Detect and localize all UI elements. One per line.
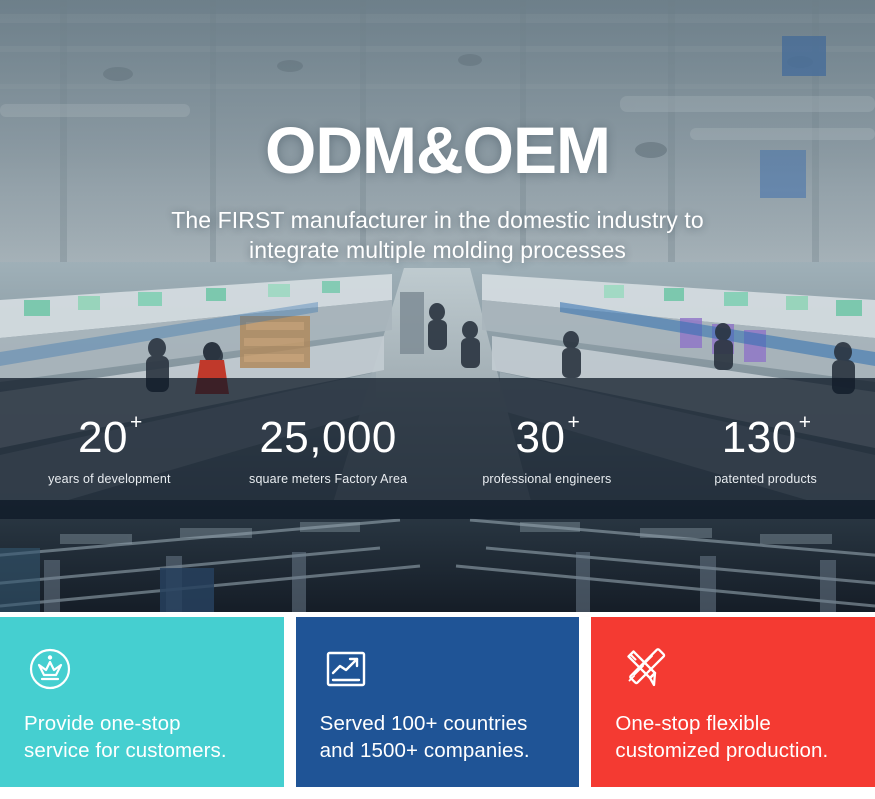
stat-label: years of development — [0, 472, 219, 486]
stat-item-factory-area: 25,000 square meters Factory Area — [219, 412, 438, 486]
hero-subtitle-line2: integrate multiple molding processes — [0, 236, 875, 266]
stat-item-years: 20+ years of development — [0, 412, 219, 486]
stat-label: square meters Factory Area — [219, 472, 438, 486]
hero-subtitle: The FIRST manufacturer in the domestic i… — [0, 206, 875, 266]
stat-suffix: + — [799, 411, 812, 434]
feature-card-line2: service for customers. — [24, 738, 260, 765]
stat-item-patents: 130+ patented products — [656, 412, 875, 486]
page-title: ODM&OEM — [0, 116, 875, 186]
feature-card-text: Provide one-stop service for customers. — [24, 711, 260, 764]
crown-circle-icon — [24, 643, 76, 695]
feature-cards-row: Provide one-stop service for customers. … — [0, 617, 875, 787]
feature-card-line1: Provide one-stop — [24, 711, 260, 738]
feature-card-line1: Served 100+ countries — [320, 711, 556, 738]
stat-label: patented products — [656, 472, 875, 486]
chart-trending-up-icon — [320, 643, 372, 695]
hero-subtitle-line1: The FIRST manufacturer in the domestic i… — [0, 206, 875, 236]
stat-item-engineers: 30+ professional engineers — [438, 412, 657, 486]
feature-card-line2: customized production. — [615, 738, 851, 765]
feature-card-customization[interactable]: One-stop flexible customized production. — [591, 617, 875, 787]
stat-number-text: 25,000 — [259, 413, 397, 462]
stats-row: 20+ years of development 25,000 square m… — [0, 378, 875, 519]
stat-suffix: + — [130, 411, 143, 434]
stat-value: 25,000 — [259, 416, 397, 460]
feature-card-line1: One-stop flexible — [615, 711, 851, 738]
feature-card-text: Served 100+ countries and 1500+ companie… — [320, 711, 556, 764]
stat-number-text: 130 — [722, 413, 797, 462]
feature-card-reach[interactable]: Served 100+ countries and 1500+ companie… — [296, 617, 580, 787]
hero-section: ODM&OEM The FIRST manufacturer in the do… — [0, 0, 875, 612]
stat-label: professional engineers — [438, 472, 657, 486]
stat-number-text: 30 — [516, 413, 566, 462]
stat-suffix: + — [567, 411, 580, 434]
feature-card-service[interactable]: Provide one-stop service for customers. — [0, 617, 284, 787]
stat-value: 130+ — [722, 416, 810, 460]
feature-card-text: One-stop flexible customized production. — [615, 711, 851, 764]
ruler-pencil-icon — [615, 643, 667, 695]
stat-value: 30+ — [516, 416, 579, 460]
promo-banner-page: ODM&OEM The FIRST manufacturer in the do… — [0, 0, 875, 799]
stat-number-text: 20 — [78, 413, 128, 462]
feature-card-line2: and 1500+ companies. — [320, 738, 556, 765]
hero-text-block: ODM&OEM The FIRST manufacturer in the do… — [0, 0, 875, 266]
stat-value: 20+ — [78, 416, 141, 460]
